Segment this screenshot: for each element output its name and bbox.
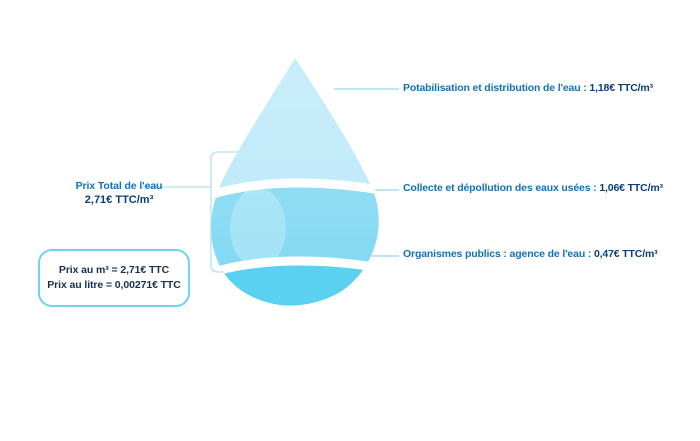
label-total: Prix Total de l'eau 2,71€ TTC/m³ [60, 179, 178, 207]
label-organismes: Organismes publics : agence de l'eau : 0… [403, 248, 658, 261]
label-collecte-text: Collecte et dépollution des eaux usées : [403, 182, 599, 194]
label-collecte: Collecte et dépollution des eaux usées :… [403, 182, 663, 195]
label-potabilisation: Potabilisation et distribution de l'eau … [403, 82, 653, 95]
water-drop [196, 40, 404, 330]
label-potabilisation-text: Potabilisation et distribution de l'eau … [403, 82, 589, 94]
water-drop-diagram [0, 0, 700, 441]
total-title: Prix Total de l'eau [60, 179, 178, 193]
summary-box: Prix au m³ = 2,71€ TTC Prix au litre = 0… [38, 249, 190, 307]
total-amount: 2,71€ TTC/m³ [60, 193, 178, 207]
label-organismes-amount: 0,47€ TTC/m³ [594, 248, 658, 260]
infographic-canvas: Potabilisation et distribution de l'eau … [0, 0, 700, 441]
label-organismes-text: Organismes publics : agence de l'eau : [403, 248, 594, 260]
label-potabilisation-amount: 1,18€ TTC/m³ [589, 82, 653, 94]
summary-line-litre: Prix au litre = 0,00271€ TTC [47, 278, 180, 293]
summary-line-cubic-meter: Prix au m³ = 2,71€ TTC [59, 263, 169, 278]
label-collecte-amount: 1,06€ TTC/m³ [599, 182, 663, 194]
